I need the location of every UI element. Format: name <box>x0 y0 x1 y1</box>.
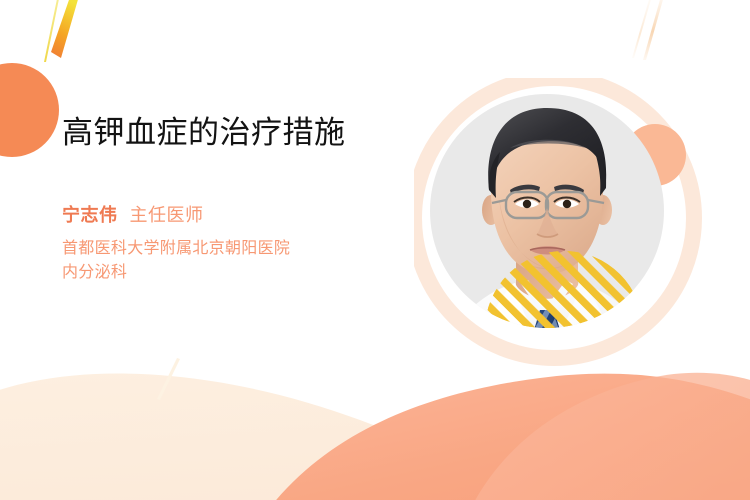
byline: 宁志伟主任医师 <box>62 201 412 227</box>
faint-diagonal-line-2 <box>632 0 652 58</box>
orange-circle <box>0 63 59 157</box>
doctor-rank: 主任医师 <box>130 205 204 225</box>
affiliation-line-1: 首都医科大学附属北京朝阳医院 <box>62 237 392 261</box>
salmon-wave-highlight <box>470 373 750 500</box>
diagonal-thin-line <box>44 0 60 62</box>
salmon-wave-shape <box>268 374 750 500</box>
diagonal-gradient-stroke <box>51 0 79 58</box>
page-title: 高钾血症的治疗措施 <box>62 112 402 154</box>
cream-wave-shape <box>0 374 750 500</box>
poster-text-block: 高钾血症的治疗措施 宁志伟主任医师 首都医科大学附属北京朝阳医院 内分泌科 <box>62 112 412 285</box>
doctor-name: 宁志伟 <box>62 205 118 225</box>
poster-canvas: 高钾血症的治疗措施 宁志伟主任医师 首都医科大学附属北京朝阳医院 内分泌科 <box>0 0 750 500</box>
faint-diagonal-line-3 <box>157 358 180 400</box>
portrait-composite <box>414 78 714 378</box>
faint-diagonal-line-1 <box>643 0 664 60</box>
affiliation: 首都医科大学附属北京朝阳医院 内分泌科 <box>62 237 392 285</box>
affiliation-line-2: 内分泌科 <box>62 261 392 285</box>
